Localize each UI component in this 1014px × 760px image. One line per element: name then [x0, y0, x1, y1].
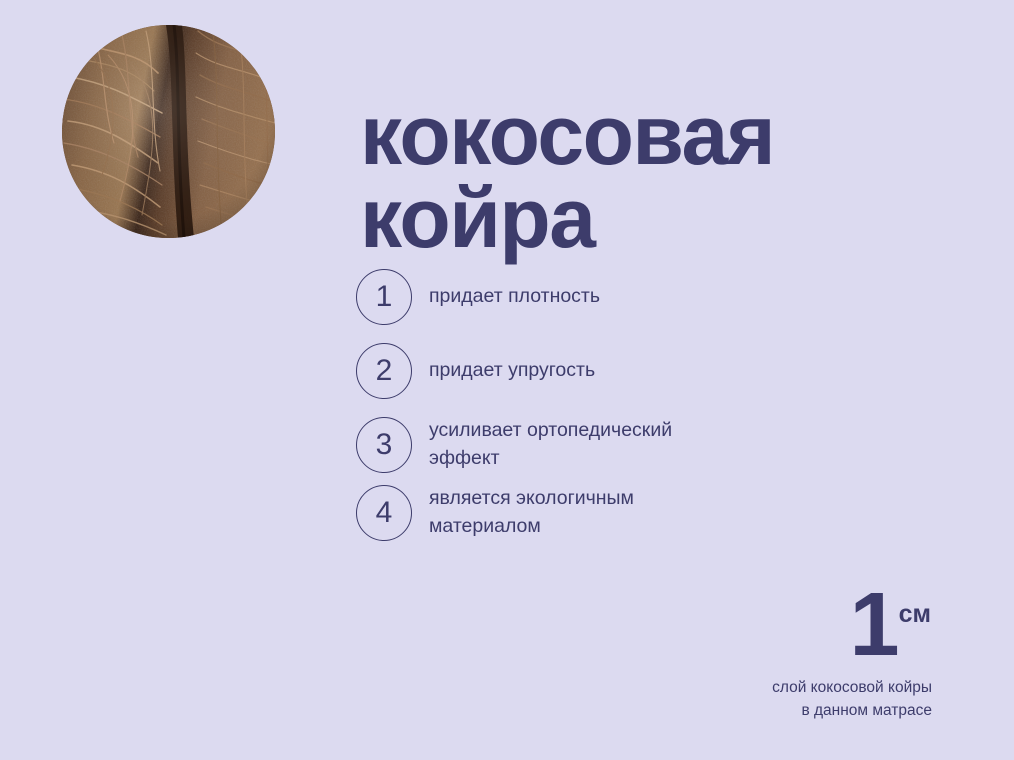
callout-unit: см [899, 600, 931, 628]
list-item: 2 придает упругость [356, 342, 876, 400]
thickness-callout: 1см слой кокосовой койры в данном матрас… [772, 580, 932, 723]
list-item-label: является экологичным материалом [429, 485, 634, 540]
slide-root: кокосовая койра 1 придает плотность 2 пр… [0, 0, 1014, 760]
list-item-label: придает плотность [429, 283, 600, 311]
list-item-number: 4 [356, 485, 412, 541]
list-item-label: придает упругость [429, 357, 595, 385]
list-item-number: 2 [356, 343, 412, 399]
page-title: кокосовая койра [360, 94, 960, 259]
list-item: 1 придает плотность [356, 268, 876, 326]
callout-number: 1 [850, 575, 898, 675]
callout-value: 1см [772, 580, 930, 670]
list-item-number: 1 [356, 269, 412, 325]
list-item-label: усиливает ортопедический эффект [429, 417, 672, 472]
callout-caption: слой кокосовой койры в данном матрасе [772, 676, 932, 723]
benefits-list: 1 придает плотность 2 придает упругость … [356, 268, 876, 552]
list-item: 3 усиливает ортопедический эффект [356, 416, 876, 474]
coconut-coir-photo [62, 25, 275, 238]
coir-texture-illustration [62, 25, 275, 238]
list-item: 4 является экологичным материалом [356, 484, 876, 542]
list-item-number: 3 [356, 417, 412, 473]
